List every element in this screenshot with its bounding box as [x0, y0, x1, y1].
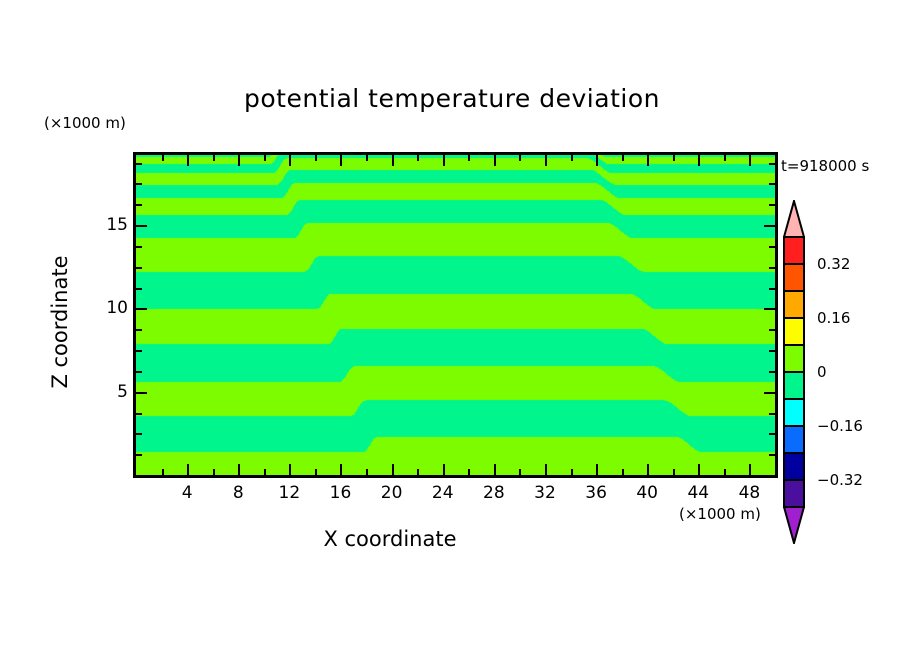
- y-tick-label: 10: [88, 298, 128, 318]
- x-minor-tick-top: [162, 155, 164, 161]
- x-major-tick-top: [392, 155, 394, 166]
- x-minor-tick-top: [417, 155, 419, 161]
- y-minor-tick: [136, 267, 142, 269]
- y-minor-tick: [136, 288, 142, 290]
- x-tick-label: 28: [483, 483, 505, 503]
- y-minor-tick: [136, 433, 142, 435]
- x-minor-tick-top: [724, 155, 726, 161]
- x-minor-tick-top: [366, 155, 368, 161]
- y-minor-tick-right: [769, 454, 775, 456]
- colorbar-cap-top: [784, 201, 804, 237]
- x-tick-label: 4: [182, 483, 193, 503]
- y-minor-tick-right: [769, 371, 775, 373]
- colorbar-band: [784, 480, 804, 507]
- y-minor-tick: [136, 246, 142, 248]
- x-minor-tick: [366, 469, 368, 475]
- y-minor-tick: [136, 454, 142, 456]
- y-minor-tick-right: [769, 413, 775, 415]
- x-major-tick-top: [443, 155, 445, 166]
- x-tick-label: 20: [381, 483, 403, 503]
- x-minor-tick-top: [264, 155, 266, 161]
- contour-field: [136, 155, 775, 475]
- x-major-tick-top: [596, 155, 598, 166]
- x-tick-label: 16: [330, 483, 352, 503]
- colorbar-band: [784, 318, 804, 345]
- y-tick-label: 15: [88, 215, 128, 235]
- x-tick-label: 12: [279, 483, 301, 503]
- colorbar-band: [784, 345, 804, 372]
- y-axis-unit-label: (×1000 m): [44, 114, 126, 132]
- x-major-tick: [494, 464, 496, 475]
- colorbar-band: [784, 399, 804, 426]
- colorbar-cap-bottom: [784, 507, 804, 543]
- x-major-tick: [238, 464, 240, 475]
- x-minor-tick-top: [315, 155, 317, 161]
- y-major-tick-right: [764, 392, 775, 394]
- x-axis-unit-label: (×1000 m): [679, 505, 761, 523]
- x-minor-tick: [724, 469, 726, 475]
- x-tick-label: 8: [233, 483, 244, 503]
- x-axis-label: X coordinate: [0, 527, 780, 551]
- x-minor-tick: [673, 469, 675, 475]
- y-minor-tick: [136, 413, 142, 415]
- x-major-tick-top: [289, 155, 291, 166]
- figure-canvas: potential temperature deviation (×1000 m…: [0, 0, 904, 654]
- timestamp-annotation: t=918000 s: [781, 157, 869, 175]
- y-major-tick: [136, 392, 147, 394]
- x-major-tick: [749, 464, 751, 475]
- x-major-tick-top: [545, 155, 547, 166]
- x-minor-tick: [468, 469, 470, 475]
- x-minor-tick: [571, 469, 573, 475]
- colorbar-tick-label: 0.16: [817, 309, 850, 327]
- y-minor-tick-right: [769, 350, 775, 352]
- x-major-tick: [340, 464, 342, 475]
- colorbar-band: [784, 237, 804, 264]
- colorbar-band: [784, 264, 804, 291]
- x-major-tick: [596, 464, 598, 475]
- x-minor-tick-top: [571, 155, 573, 161]
- x-major-tick: [545, 464, 547, 475]
- y-minor-tick-right: [769, 329, 775, 331]
- y-minor-tick-right: [769, 433, 775, 435]
- x-major-tick: [698, 464, 700, 475]
- x-minor-tick: [162, 469, 164, 475]
- y-major-tick-right: [764, 225, 775, 227]
- y-minor-tick: [136, 329, 142, 331]
- x-tick-label: 24: [432, 483, 454, 503]
- y-major-tick: [136, 225, 147, 227]
- colorbar-tick-label: −0.16: [817, 417, 863, 435]
- y-major-tick-right: [764, 308, 775, 310]
- contour-plot-area: [133, 152, 778, 478]
- x-minor-tick-top: [673, 155, 675, 161]
- colorbar-band: [784, 453, 804, 480]
- page-title: potential temperature deviation: [0, 84, 904, 113]
- y-minor-tick-right: [769, 288, 775, 290]
- x-major-tick-top: [187, 155, 189, 166]
- y-axis-label: Z coordinate: [48, 222, 72, 422]
- x-minor-tick-top: [519, 155, 521, 161]
- x-major-tick: [392, 464, 394, 475]
- y-minor-tick-right: [769, 183, 775, 185]
- x-major-tick-top: [340, 155, 342, 166]
- x-major-tick-top: [494, 155, 496, 166]
- x-tick-label: 44: [687, 483, 709, 503]
- x-major-tick: [187, 464, 189, 475]
- colorbar-tick-label: −0.32: [817, 471, 863, 489]
- y-minor-tick: [136, 371, 142, 373]
- y-minor-tick-right: [769, 267, 775, 269]
- x-tick-label: 40: [636, 483, 658, 503]
- y-minor-tick-right: [769, 163, 775, 165]
- colorbar-tick-label: 0.32: [817, 255, 850, 273]
- colorbar-band: [784, 291, 804, 318]
- y-minor-tick: [136, 163, 142, 165]
- colorbar-swatches: [783, 200, 805, 544]
- x-tick-label: 32: [534, 483, 556, 503]
- x-minor-tick: [213, 469, 215, 475]
- x-minor-tick: [417, 469, 419, 475]
- y-minor-tick-right: [769, 204, 775, 206]
- y-minor-tick: [136, 183, 142, 185]
- y-major-tick: [136, 308, 147, 310]
- x-major-tick-top: [647, 155, 649, 166]
- y-tick-label: 5: [88, 382, 128, 402]
- colorbar-tick-label: 0: [817, 363, 827, 381]
- y-minor-tick: [136, 204, 142, 206]
- x-minor-tick-top: [468, 155, 470, 161]
- x-tick-label: 36: [585, 483, 607, 503]
- x-minor-tick-top: [775, 155, 777, 161]
- colorbar-band: [784, 372, 804, 399]
- x-major-tick-top: [749, 155, 751, 166]
- x-minor-tick: [622, 469, 624, 475]
- x-minor-tick: [519, 469, 521, 475]
- colorbar: [783, 200, 805, 548]
- x-major-tick-top: [698, 155, 700, 166]
- x-tick-label: 48: [739, 483, 761, 503]
- x-minor-tick: [315, 469, 317, 475]
- x-minor-tick: [775, 469, 777, 475]
- colorbar-band: [784, 426, 804, 453]
- x-major-tick-top: [238, 155, 240, 166]
- x-major-tick: [289, 464, 291, 475]
- x-major-tick: [443, 464, 445, 475]
- x-major-tick: [647, 464, 649, 475]
- x-minor-tick-top: [213, 155, 215, 161]
- x-minor-tick-top: [622, 155, 624, 161]
- x-minor-tick: [264, 469, 266, 475]
- y-minor-tick: [136, 350, 142, 352]
- y-minor-tick-right: [769, 246, 775, 248]
